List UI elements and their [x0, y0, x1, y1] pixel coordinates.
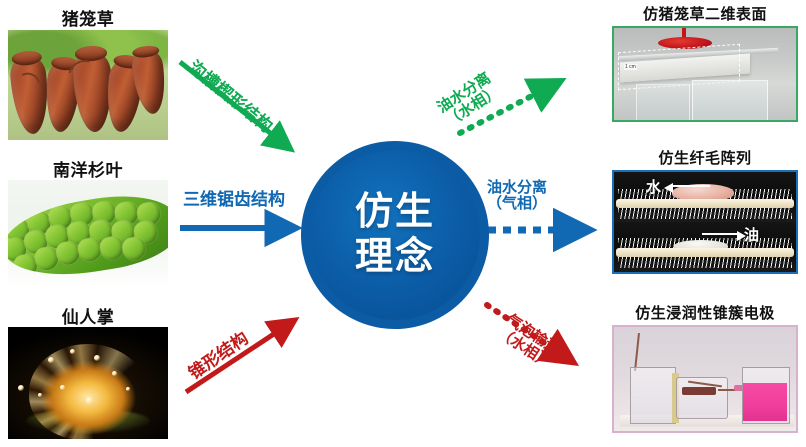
right-title-cilia-array: 仿生纤毛阵列: [612, 147, 798, 168]
arrow-label-3d-sawtooth: 三维锯齿结构: [183, 191, 285, 209]
center-node-label: 仿生 理念: [355, 190, 435, 280]
arrow-label-oil-water-separation-gas: 油水分离 （气相）: [487, 180, 547, 212]
water-direction-arrow-icon: [672, 185, 710, 187]
arrow-label-conical: 锥形结构: [186, 329, 252, 383]
leaf-body: [8, 187, 168, 286]
water-droplet: [18, 385, 24, 391]
cilia-hairs-lower: [618, 208, 792, 219]
water-droplet: [60, 385, 65, 390]
overlay-label-oil: 油: [744, 224, 759, 245]
center-node-biomimetic-concept: 仿生 理念: [310, 150, 480, 320]
cilia-substrate-rod: [616, 248, 794, 257]
left-title-cactus: 仙人掌: [8, 303, 168, 328]
water-droplet: [38, 393, 42, 397]
nepenthes-photo: [8, 30, 168, 140]
biomimetic-cilia-array-photo: 水 油: [612, 170, 798, 274]
water-droplet: [48, 357, 54, 363]
electrode-wire: [634, 333, 640, 371]
cilia-substrate-rod: [616, 199, 794, 208]
spine-cluster: [29, 344, 147, 439]
biomimetic-nepenthes-surface-photo: 1 cm: [612, 26, 798, 122]
biomimetic-wettable-cone-electrode-photo: [612, 325, 798, 433]
water-droplet: [126, 387, 130, 391]
cactus-photo: [8, 327, 168, 439]
diagram-canvas: 猪笼草 南洋杉叶: [0, 0, 806, 447]
left-title-nepenthes: 猪笼草: [8, 5, 168, 30]
overlay-label-water: 水: [646, 176, 661, 197]
water-droplet: [86, 397, 93, 405]
surface-experiment-illustration: 1 cm: [614, 28, 796, 120]
cilia-frame-water: 水: [614, 172, 796, 224]
arrow-label-groove-wedge: 沟槽楔形结构: [185, 58, 275, 136]
araucaria-illustration: [8, 180, 168, 290]
cactus-illustration: [8, 327, 168, 439]
glass-tank-left: [630, 367, 676, 424]
electrode-setup-illustration: [614, 327, 796, 431]
beaker-right: [692, 80, 768, 122]
scale-label: 1 cm: [624, 64, 637, 70]
cilia-frame-oil: 油: [614, 222, 796, 272]
cilia-hairs-lower: [618, 257, 792, 268]
oil-direction-arrow-icon: [702, 233, 738, 235]
center-label-line-2: 理念: [355, 235, 435, 280]
arrow-label-oil-water-separation-water: 油水分离 （水相）: [435, 70, 502, 129]
water-droplet: [112, 371, 117, 376]
left-title-araucaria: 南洋杉叶: [8, 156, 168, 181]
araucaria-leaf-photo: [8, 180, 168, 290]
electrode-sample: [682, 387, 716, 395]
water-droplet: [94, 355, 100, 361]
arrow-label-bubble-transport-water: 气泡输运 （水相）: [495, 312, 562, 371]
nepenthes-illustration: [8, 30, 168, 140]
label-line-2: （气相）: [487, 196, 547, 212]
pink-electrolyte: [743, 383, 787, 421]
center-label-line-1: 仿生: [355, 190, 435, 235]
beaker-left: [636, 84, 690, 122]
water-droplet: [70, 349, 75, 354]
right-title-cone-electrode: 仿生浸润性锥簇电极: [612, 302, 798, 323]
label-line-1: 油水分离: [487, 180, 547, 196]
right-title-nepenthes-surface: 仿猪笼草二维表面: [612, 3, 798, 24]
